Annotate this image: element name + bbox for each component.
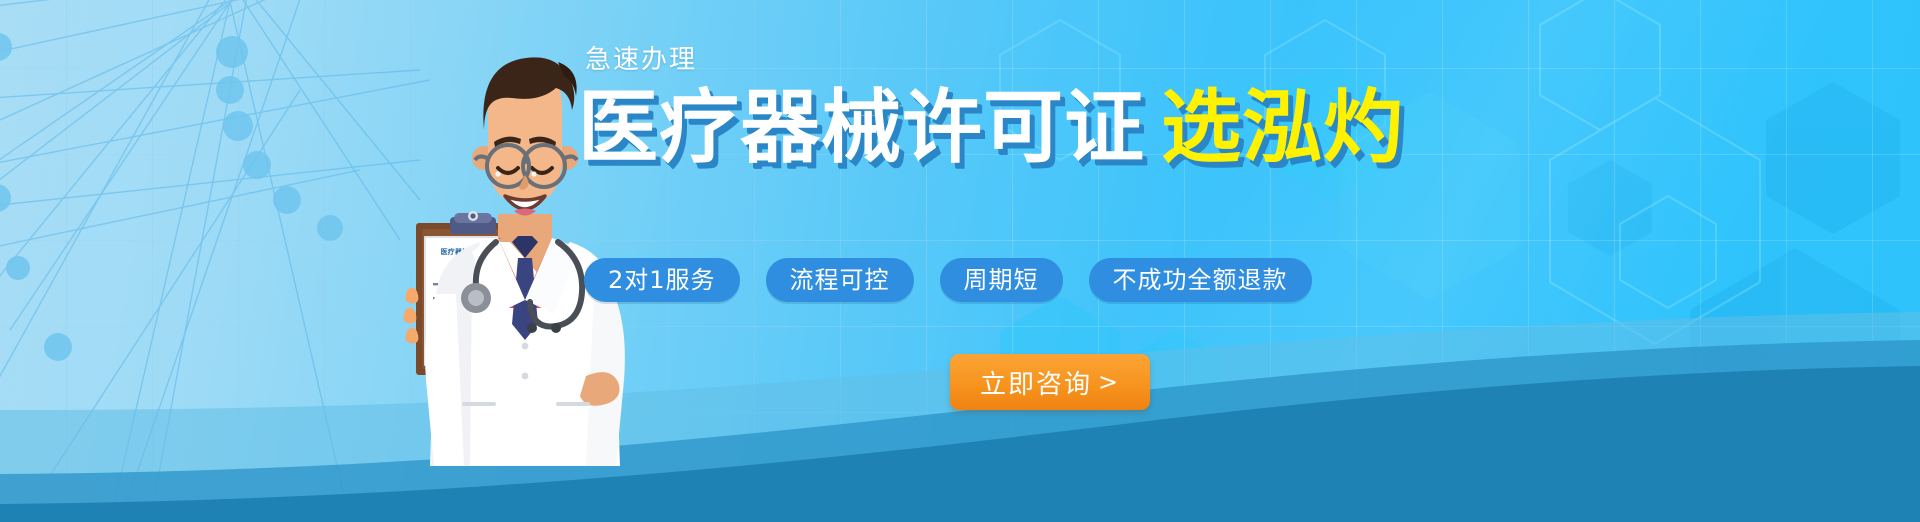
feature-pill-2[interactable]: 流程可控 — [766, 258, 914, 302]
feature-pill-list: 2对1服务 流程可控 周期短 不成功全额退款 — [584, 258, 1312, 302]
chevron-right-icon: > — [1098, 368, 1120, 396]
banner-headline: 医疗器械许可证选泓灼 — [578, 88, 1404, 168]
consult-now-button[interactable]: 立即咨询 > — [950, 354, 1150, 410]
feature-pill-4[interactable]: 不成功全额退款 — [1089, 258, 1312, 302]
banner-kicker: 急速办理 — [585, 47, 697, 73]
headline-accent: 选泓灼 — [1161, 81, 1404, 174]
feature-pill-1[interactable]: 2对1服务 — [584, 258, 740, 302]
banner-content: 急速办理 医疗器械许可证选泓灼 2对1服务 流程可控 周期短 不成功全额退款 立… — [0, 0, 1920, 522]
headline-main: 医疗器械许可证 — [578, 81, 1145, 174]
promo-banner: 医疗器械经营许可证 — [0, 0, 1920, 522]
feature-pill-3[interactable]: 周期短 — [940, 258, 1063, 302]
consult-now-label: 立即咨询 — [980, 364, 1092, 401]
